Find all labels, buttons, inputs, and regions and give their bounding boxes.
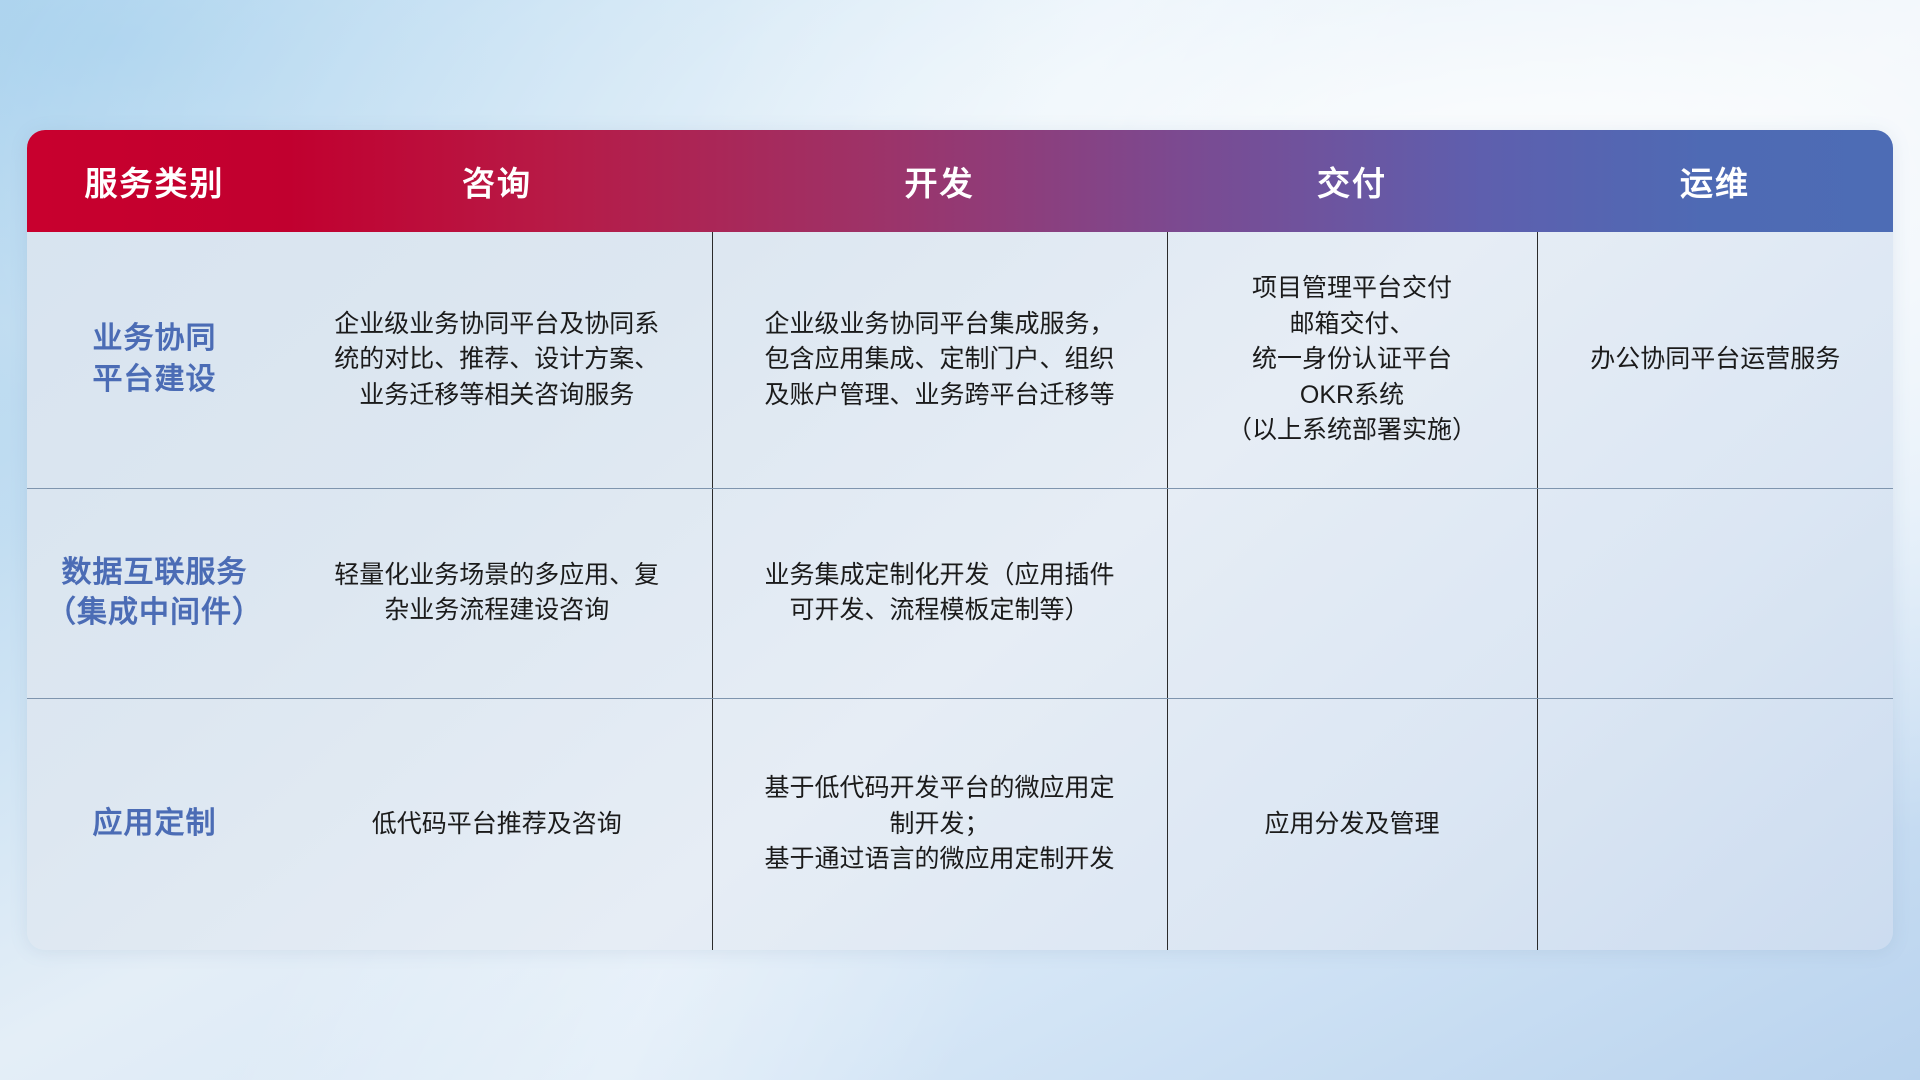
header-cell-operations: 运维: [1537, 130, 1893, 232]
cell-development: 基于低代码开发平台的微应用定 制开发； 基于通过语言的微应用定制开发: [712, 698, 1167, 950]
cell-operations: [1537, 698, 1893, 950]
table-row: 数据互联服务 （集成中间件） 轻量化业务场景的多应用、复 杂业务流程建设咨询 业…: [27, 488, 1893, 698]
slide-canvas: 服务类别 咨询 开发 交付 运维 业务协同 平台建设 企业级业务协同平台及协同系…: [0, 0, 1920, 1080]
cell-operations: [1537, 488, 1893, 698]
table-body: 业务协同 平台建设 企业级业务协同平台及协同系 统的对比、推荐、设计方案、 业务…: [27, 232, 1893, 950]
table-header: 服务类别 咨询 开发 交付 运维: [27, 130, 1893, 232]
cell-consulting: 企业级业务协同平台及协同系 统的对比、推荐、设计方案、 业务迁移等相关咨询服务: [282, 232, 712, 488]
header-cell-consulting: 咨询: [282, 130, 712, 232]
cell-delivery: [1167, 488, 1537, 698]
header-row: 服务类别 咨询 开发 交付 运维: [27, 130, 1893, 232]
row-category-label: 应用定制: [27, 698, 282, 950]
row-category-label: 数据互联服务 （集成中间件）: [27, 488, 282, 698]
service-matrix-card: 服务类别 咨询 开发 交付 运维 业务协同 平台建设 企业级业务协同平台及协同系…: [27, 130, 1893, 950]
cell-consulting: 低代码平台推荐及咨询: [282, 698, 712, 950]
cell-delivery: 应用分发及管理: [1167, 698, 1537, 950]
cell-development: 业务集成定制化开发（应用插件 可开发、流程模板定制等）: [712, 488, 1167, 698]
header-cell-delivery: 交付: [1167, 130, 1537, 232]
cell-consulting: 轻量化业务场景的多应用、复 杂业务流程建设咨询: [282, 488, 712, 698]
cell-delivery: 项目管理平台交付 邮箱交付、 统一身份认证平台 OKR系统 （以上系统部署实施）: [1167, 232, 1537, 488]
header-cell-service-category: 服务类别: [27, 130, 282, 232]
row-category-label: 业务协同 平台建设: [27, 232, 282, 488]
service-matrix-table: 服务类别 咨询 开发 交付 运维 业务协同 平台建设 企业级业务协同平台及协同系…: [27, 130, 1893, 950]
header-cell-development: 开发: [712, 130, 1167, 232]
cell-operations: 办公协同平台运营服务: [1537, 232, 1893, 488]
cell-development: 企业级业务协同平台集成服务， 包含应用集成、定制门户、组织 及账户管理、业务跨平…: [712, 232, 1167, 488]
table-row: 业务协同 平台建设 企业级业务协同平台及协同系 统的对比、推荐、设计方案、 业务…: [27, 232, 1893, 488]
table-row: 应用定制 低代码平台推荐及咨询 基于低代码开发平台的微应用定 制开发； 基于通过…: [27, 698, 1893, 950]
